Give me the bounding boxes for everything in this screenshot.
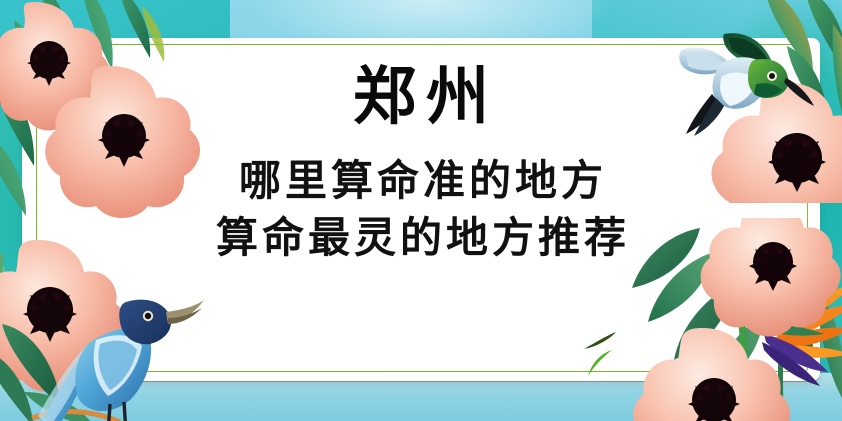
poster-canvas: 郑州 哪里算命准的地方 算命最灵的地方推荐 [0, 0, 842, 421]
page-title: 郑州 [343, 62, 499, 130]
subtitle-line-1: 哪里算命准的地方 [212, 152, 630, 209]
subtitle-line-2: 算命最灵的地方推荐 [212, 209, 630, 266]
subtitle-group: 哪里算命准的地方 算命最灵的地方推荐 [212, 152, 630, 266]
poster-text-block: 郑州 哪里算命准的地方 算命最灵的地方推荐 [22, 38, 820, 381]
